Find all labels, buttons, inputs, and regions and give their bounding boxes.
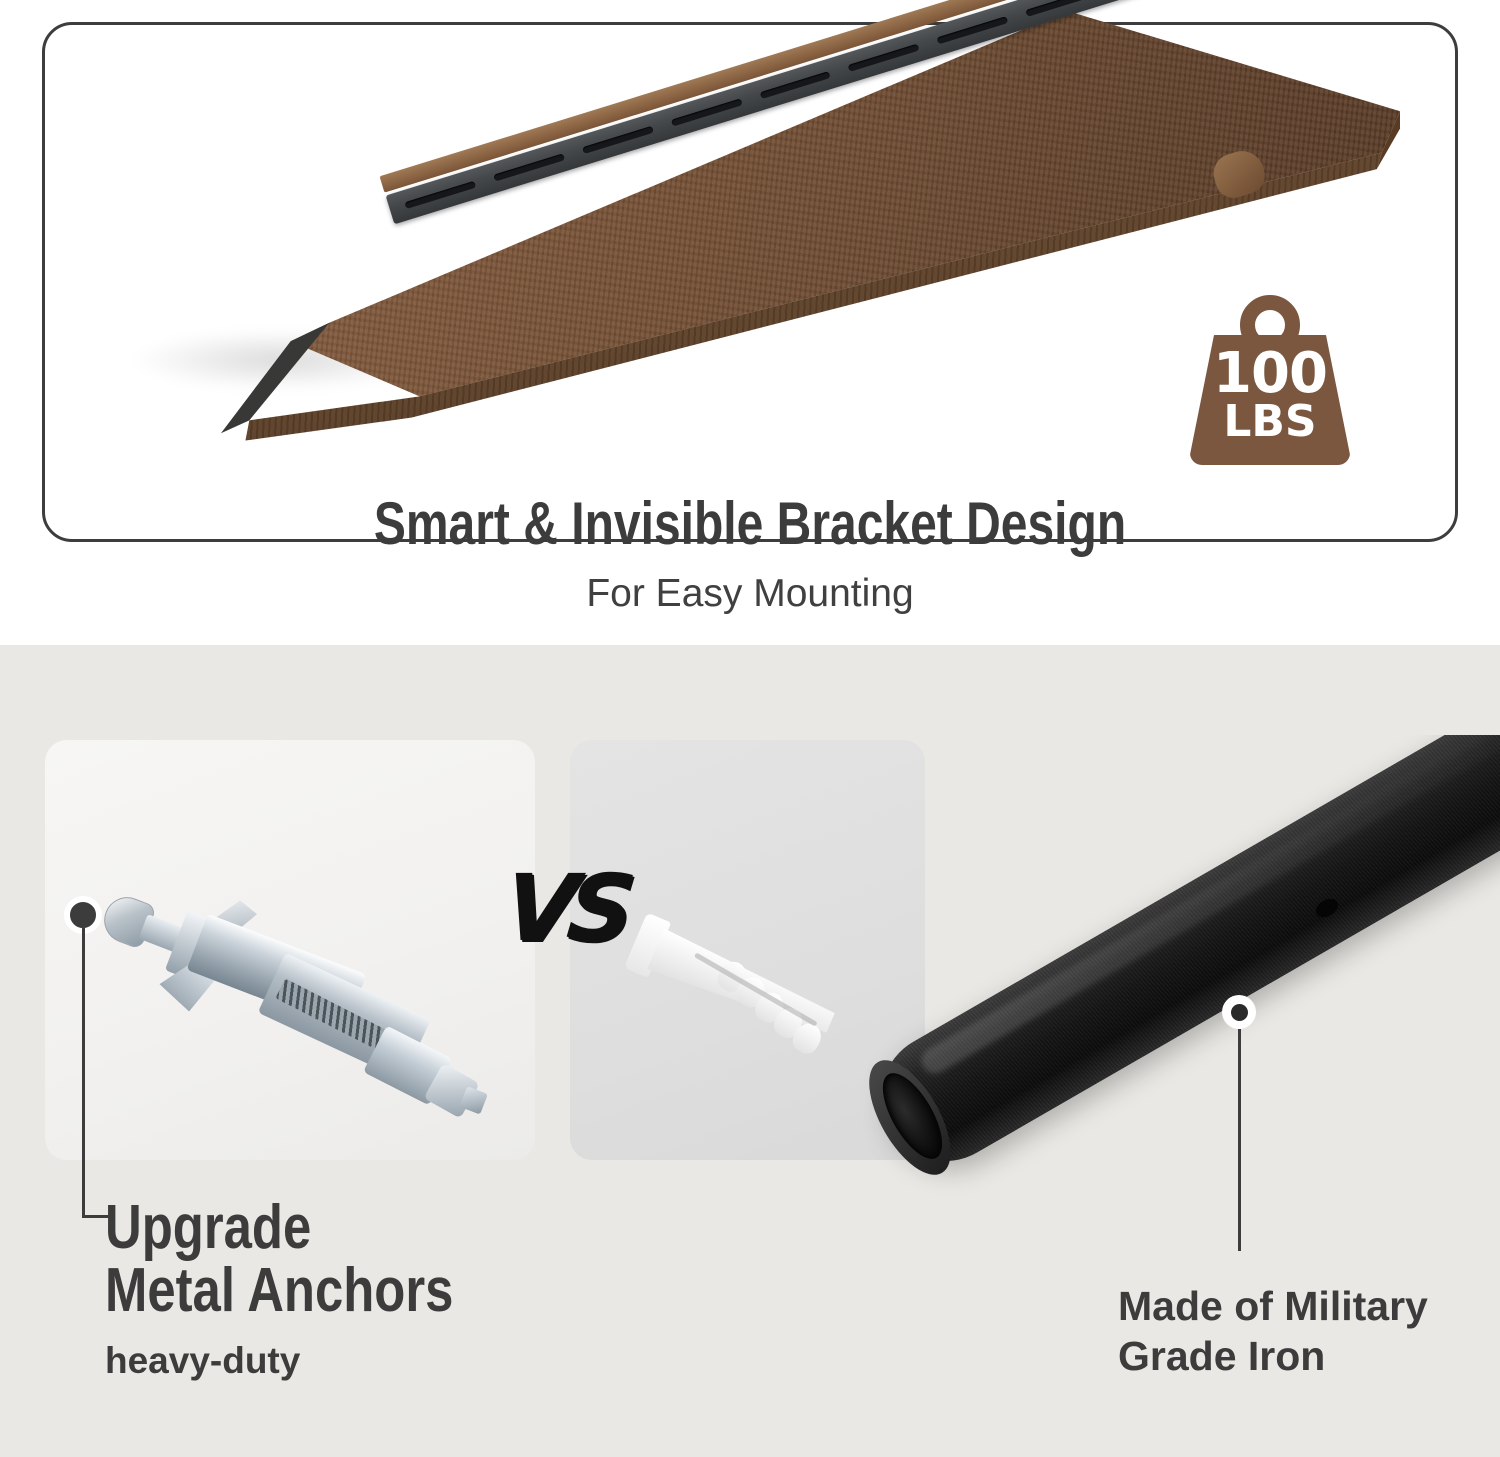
- weight-badge-number: 100: [1190, 347, 1350, 401]
- weight-badge-unit: LBS: [1190, 401, 1350, 443]
- leader-dot-center: [1231, 1004, 1248, 1021]
- callout-left-line2: Metal Anchors: [105, 1259, 453, 1322]
- plug-fins: [700, 957, 858, 1080]
- versus-label: VS: [499, 855, 632, 962]
- iron-tube: [860, 735, 1500, 1184]
- iron-tube-image: [860, 735, 1500, 1295]
- top-headline: Smart & Invisible Bracket Design: [150, 489, 1350, 558]
- callout-left-subtitle: heavy-duty: [105, 1340, 530, 1382]
- iron-tube-leader-dot: [1222, 995, 1256, 1029]
- tube-highlight: [917, 735, 1500, 1078]
- weight-badge-text: 100 LBS: [1190, 347, 1350, 443]
- iron-tube-leader-line: [1238, 1029, 1241, 1251]
- top-feature-panel: 100 LBS Smart & Invisible Bracket Design…: [0, 0, 1500, 640]
- callout-right-line2: Grade Iron: [1118, 1331, 1428, 1381]
- metal-anchor-callout: Upgrade Metal Anchors heavy-duty: [105, 1196, 530, 1382]
- callout-right-line1: Made of Military: [1118, 1281, 1428, 1331]
- metal-anchor-leader-line: [82, 928, 85, 1218]
- weight-capacity-badge: 100 LBS: [1190, 295, 1350, 465]
- top-subheadline: For Easy Mounting: [0, 572, 1500, 616]
- callout-left-line1: Upgrade: [105, 1196, 453, 1259]
- iron-tube-callout: Made of Military Grade Iron: [1118, 1281, 1428, 1381]
